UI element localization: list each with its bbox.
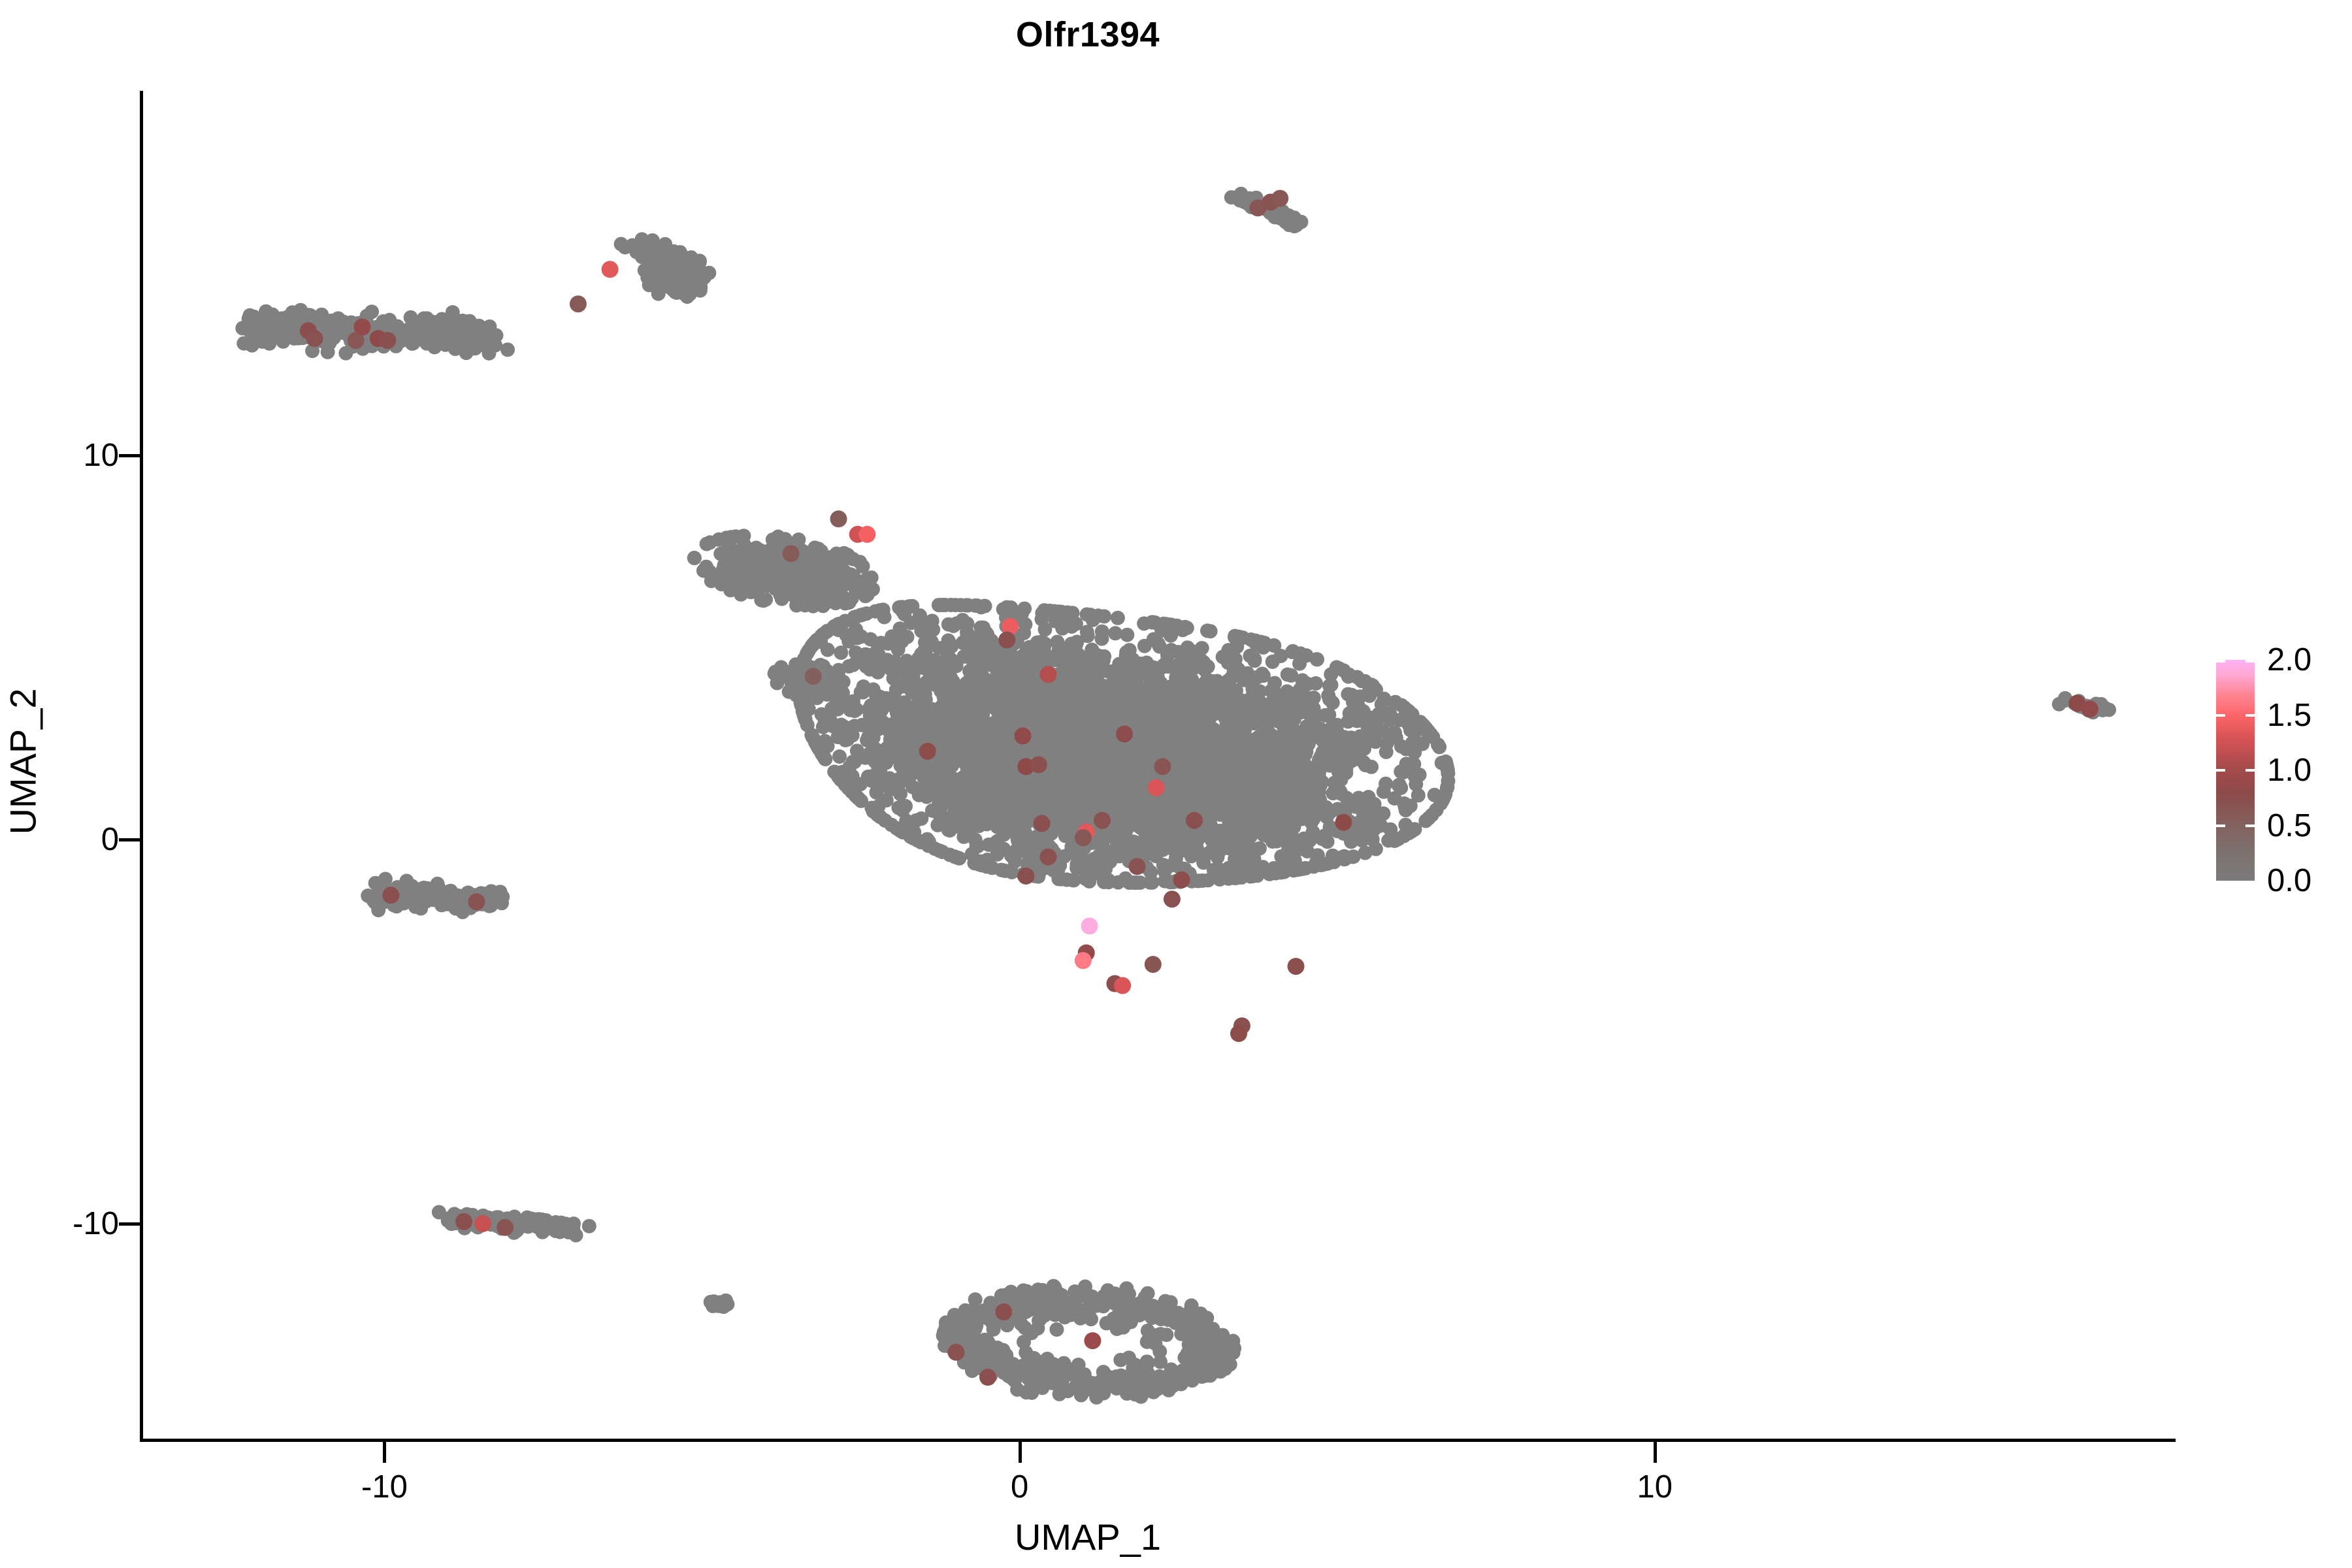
highlighted-cell	[1230, 1025, 1247, 1042]
highlighted-cell	[2082, 700, 2099, 717]
plot-panel	[143, 91, 2176, 1439]
highlighted-cell	[306, 330, 323, 347]
color-legend: 2.01.51.00.50.0	[2216, 660, 2340, 908]
x-axis-title: UMAP_1	[0, 1516, 2176, 1558]
colorbar-tick	[2216, 825, 2225, 827]
highlighted-cell	[455, 1213, 472, 1230]
x-tick-label: 10	[1637, 1469, 1673, 1505]
x-tick-label: -10	[361, 1469, 408, 1505]
colorbar-tick	[2216, 714, 2225, 717]
highlighted-cell	[919, 743, 936, 760]
highlighted-cell	[474, 1215, 491, 1232]
highlighted-cell	[1335, 814, 1352, 831]
colorbar-label: 1.0	[2267, 752, 2311, 789]
umap-feature-plot: Olfr1394 -10010 100-10 UMAP_1 UMAP_2 2.0…	[0, 0, 2352, 1568]
highlighted-cell	[382, 887, 399, 904]
y-tick	[119, 454, 140, 457]
colorbar-tick	[2246, 660, 2255, 662]
highlighted-cell	[783, 545, 800, 562]
highlighted-cell	[1094, 812, 1111, 829]
colorbar-label: 1.5	[2267, 697, 2311, 734]
highlighted-cell	[995, 1303, 1012, 1320]
highlighted-cell	[1271, 190, 1288, 207]
highlighted-cell	[468, 893, 485, 910]
colorbar-tick	[2216, 660, 2225, 662]
background-points-layer	[235, 187, 2116, 1405]
colorbar-tick	[2246, 825, 2255, 827]
colorbar-label: 2.0	[2267, 642, 2311, 678]
y-tick-label: 0	[101, 821, 119, 858]
y-tick-label: 10	[83, 437, 119, 474]
highlighted-cell	[1186, 812, 1203, 829]
highlighted-cell	[379, 332, 396, 349]
y-tick-label: -10	[73, 1205, 119, 1242]
highlighted-cell	[998, 632, 1015, 649]
scatter-canvas	[143, 91, 2176, 1439]
highlighted-cell	[1173, 872, 1190, 889]
highlighted-cell	[1030, 757, 1047, 774]
y-tick	[119, 838, 140, 841]
highlighted-cell	[1015, 727, 1032, 744]
highlighted-cell	[1034, 815, 1051, 832]
highlighted-cell	[1017, 868, 1034, 885]
highlighted-cell	[1075, 829, 1092, 846]
highlighted-cell	[1084, 1332, 1101, 1349]
x-tick	[1019, 1442, 1022, 1463]
highlighted-cell	[602, 261, 619, 278]
highlighted-cell	[1075, 952, 1092, 969]
highlighted-cell	[1148, 779, 1165, 796]
highlighted-cell	[1039, 849, 1056, 866]
highlighted-cell	[1116, 726, 1133, 743]
highlighted-cell	[1129, 858, 1146, 875]
highlighted-cell	[1288, 958, 1305, 975]
highlighted-cell	[353, 319, 370, 336]
y-tick	[119, 1222, 140, 1226]
highlighted-cell	[497, 1219, 514, 1236]
highlighted-cell	[947, 1344, 964, 1361]
highlighted-cell	[858, 526, 875, 543]
highlighted-cell	[1164, 890, 1181, 907]
colorbar-tick	[2246, 714, 2255, 717]
x-tick	[1654, 1442, 1657, 1463]
highlighted-cell	[1114, 977, 1131, 994]
highlighted-cell	[1145, 956, 1162, 973]
highlighted-cell	[830, 510, 847, 527]
colorbar-label: 0.5	[2267, 808, 2311, 844]
y-axis-title: UMAP_2	[2, 435, 44, 1088]
highlighted-cell	[979, 1369, 996, 1386]
page-title: Olfr1394	[0, 14, 2176, 55]
highlighted-cell	[1081, 917, 1098, 934]
x-tick-label: 0	[1011, 1469, 1028, 1505]
highlighted-cell	[1154, 758, 1171, 775]
highlighted-cell	[1039, 666, 1056, 683]
colorbar-tick	[2246, 769, 2255, 772]
highlighted-cell	[805, 668, 822, 685]
x-tick	[383, 1442, 386, 1463]
highlighted-cell	[570, 295, 587, 312]
colorbar-label: 0.0	[2267, 862, 2311, 899]
colorbar-tick	[2216, 769, 2225, 772]
